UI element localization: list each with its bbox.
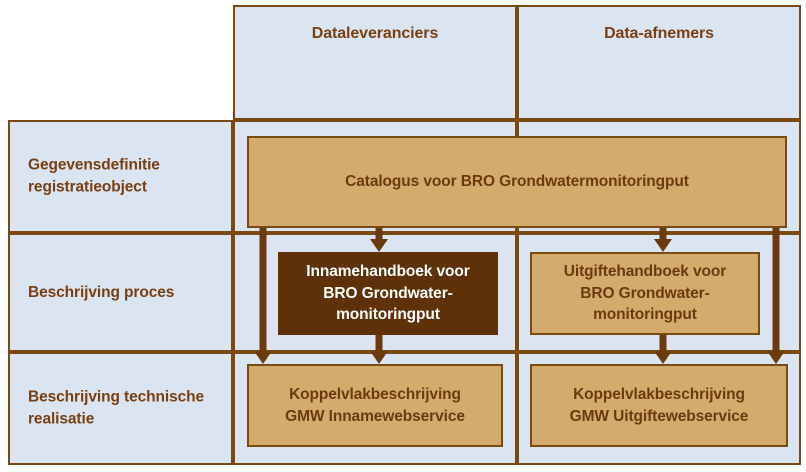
box-uitgiftehandboek-label: Uitgiftehandboek voor BRO Grondwater- mo…	[564, 261, 726, 325]
row-header-technische-realisatie: Beschrijving technische realisatie	[8, 352, 233, 465]
diagram-canvas: Dataleveranciers Data-afnemers Gegevensd…	[0, 0, 806, 472]
box-uitgiftehandboek-line-3: monitoringput	[593, 306, 697, 323]
box-innamehandboek-label: Innamehandboek voor BRO Grondwater- moni…	[306, 261, 469, 325]
box-innamehandboek-line-2: BRO Grondwater-	[323, 285, 452, 302]
row-header-gegevensdefinitie-label: Gegevensdefinitie registratieobject	[28, 154, 221, 199]
box-catalogus-label: Catalogus voor BRO Grondwatermonitoringp…	[345, 171, 689, 192]
box-innamehandboek-line-1: Innamehandboek voor	[306, 263, 469, 280]
row-header-proces: Beschrijving proces	[8, 233, 233, 352]
box-koppelvlak-uitgifte-line-1: Koppelvlakbeschrijving	[573, 386, 745, 403]
arrow-uitgiftehandboek-to-koppelvlak-uitgifte	[654, 335, 672, 364]
box-uitgiftehandboek[interactable]: Uitgiftehandboek voor BRO Grondwater- mo…	[530, 252, 760, 335]
box-innamehandboek-line-3: monitoringput	[336, 306, 440, 323]
box-koppelvlak-uitgifte-line-2: GMW Uitgiftewebservice	[570, 408, 749, 425]
row-header-technische-realisatie-label: Beschrijving technische realisatie	[28, 386, 221, 431]
arrow-catalogus-to-innamehandboek	[370, 228, 388, 252]
box-koppelvlak-uitgifte-label: Koppelvlakbeschrijving GMW Uitgiftewebse…	[570, 384, 749, 427]
box-koppelvlak-inname-line-1: Koppelvlakbeschrijving	[289, 386, 461, 403]
box-innamehandboek[interactable]: Innamehandboek voor BRO Grondwater- moni…	[278, 252, 498, 335]
box-koppelvlak-inname-line-2: GMW Innamewebservice	[285, 408, 465, 425]
box-koppelvlak-uitgifte[interactable]: Koppelvlakbeschrijving GMW Uitgiftewebse…	[530, 364, 788, 447]
box-uitgiftehandboek-line-2: BRO Grondwater-	[580, 285, 709, 302]
column-header-dataleveranciers: Dataleveranciers	[233, 5, 517, 120]
box-koppelvlak-inname[interactable]: Koppelvlakbeschrijving GMW Innamewebserv…	[247, 364, 503, 447]
column-header-dataleveranciers-label: Dataleveranciers	[235, 25, 515, 43]
box-uitgiftehandboek-line-1: Uitgiftehandboek voor	[564, 263, 726, 280]
arrow-catalogus-to-koppelvlak-inname	[254, 228, 272, 364]
arrow-catalogus-to-uitgiftehandboek	[654, 228, 672, 252]
row-header-gegevensdefinitie: Gegevensdefinitie registratieobject	[8, 120, 233, 233]
box-catalogus[interactable]: Catalogus voor BRO Grondwatermonitoringp…	[247, 136, 787, 228]
column-header-data-afnemers: Data-afnemers	[517, 5, 801, 120]
arrow-innamehandboek-to-koppelvlak-inname	[370, 335, 388, 364]
row-header-proces-label: Beschrijving proces	[28, 281, 221, 303]
arrow-catalogus-to-koppelvlak-uitgifte	[767, 228, 785, 364]
column-header-data-afnemers-label: Data-afnemers	[519, 25, 799, 43]
box-koppelvlak-inname-label: Koppelvlakbeschrijving GMW Innamewebserv…	[285, 384, 465, 427]
